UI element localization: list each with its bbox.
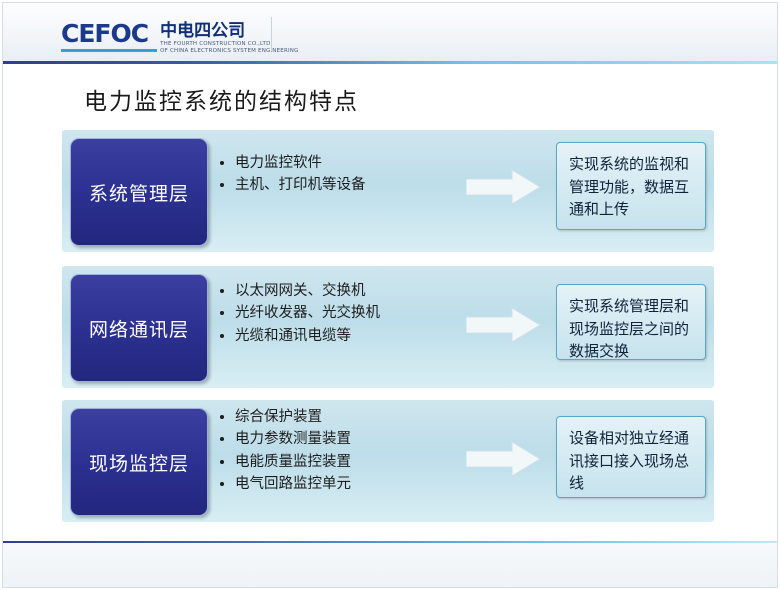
list-item: 主机、打印机等设备 <box>235 174 366 196</box>
logo-english-line1: THE FOURTH CONSTRUCTION CO.,LTD <box>160 41 298 48</box>
logo-english-line2: OF CHINA ELECTRONICS SYSTEM ENGINEERING <box>160 48 298 55</box>
slide-canvas: CEFOC 中电四公司 THE FOURTH CONSTRUCTION CO.,… <box>0 0 780 590</box>
layer-row-system-management: 系统管理层 电力监控软件 主机、打印机等设备 实现系统的监视和管理功能，数据互通… <box>62 130 714 252</box>
layer-label-box[interactable]: 系统管理层 <box>70 138 208 246</box>
list-item: 电力监控软件 <box>235 152 366 174</box>
layer-bullet-list: 综合保护装置 电力参数测量装置 电能质量监控装置 电气回路监控单元 <box>220 406 351 496</box>
slide-footer <box>3 543 777 587</box>
layer-label-box[interactable]: 现场监控层 <box>70 408 208 516</box>
layer-bullet-list: 电力监控软件 主机、打印机等设备 <box>220 152 366 197</box>
arrow-right-icon <box>466 306 542 344</box>
logo-divider <box>271 17 272 51</box>
list-item: 电力参数测量装置 <box>235 428 351 450</box>
layer-bullet-list: 以太网网关、交换机 光纤收发器、光交换机 光缆和通讯电缆等 <box>220 280 380 347</box>
logo-underline-bar <box>61 49 157 52</box>
layer-result-box[interactable]: 实现系统的监视和管理功能，数据互通和上传 <box>556 142 706 230</box>
layer-row-network-communication: 网络通讯层 以太网网关、交换机 光纤收发器、光交换机 光缆和通讯电缆等 实现系统… <box>62 266 714 388</box>
layer-label-box[interactable]: 网络通讯层 <box>70 274 208 382</box>
list-item: 综合保护装置 <box>235 406 351 428</box>
list-item: 电能质量监控装置 <box>235 451 351 473</box>
list-item: 以太网网关、交换机 <box>235 280 380 302</box>
layer-result-box[interactable]: 实现系统管理层和现场监控层之间的数据交换 <box>556 284 706 360</box>
arrow-right-icon <box>466 440 542 478</box>
arrow-right-icon <box>466 168 542 206</box>
logo-chinese-name: 中电四公司 <box>160 23 298 41</box>
list-item: 电气回路监控单元 <box>235 473 351 495</box>
list-item: 光纤收发器、光交换机 <box>235 302 380 324</box>
list-item: 光缆和通讯电缆等 <box>235 325 380 347</box>
header-accent-rule <box>3 61 777 64</box>
slide-header: CEFOC 中电四公司 THE FOURTH CONSTRUCTION CO.,… <box>3 3 777 61</box>
layer-result-box[interactable]: 设备相对独立经通讯接口接入现场总线 <box>556 416 706 498</box>
logo-text-block: 中电四公司 THE FOURTH CONSTRUCTION CO.,LTD OF… <box>148 21 298 56</box>
layer-row-field-monitoring: 现场监控层 综合保护装置 电力参数测量装置 电能质量监控装置 电气回路监控单元 … <box>62 400 714 522</box>
logo-wordmark: CEFOC <box>61 21 148 46</box>
page-title: 电力监控系统的结构特点 <box>84 82 359 116</box>
